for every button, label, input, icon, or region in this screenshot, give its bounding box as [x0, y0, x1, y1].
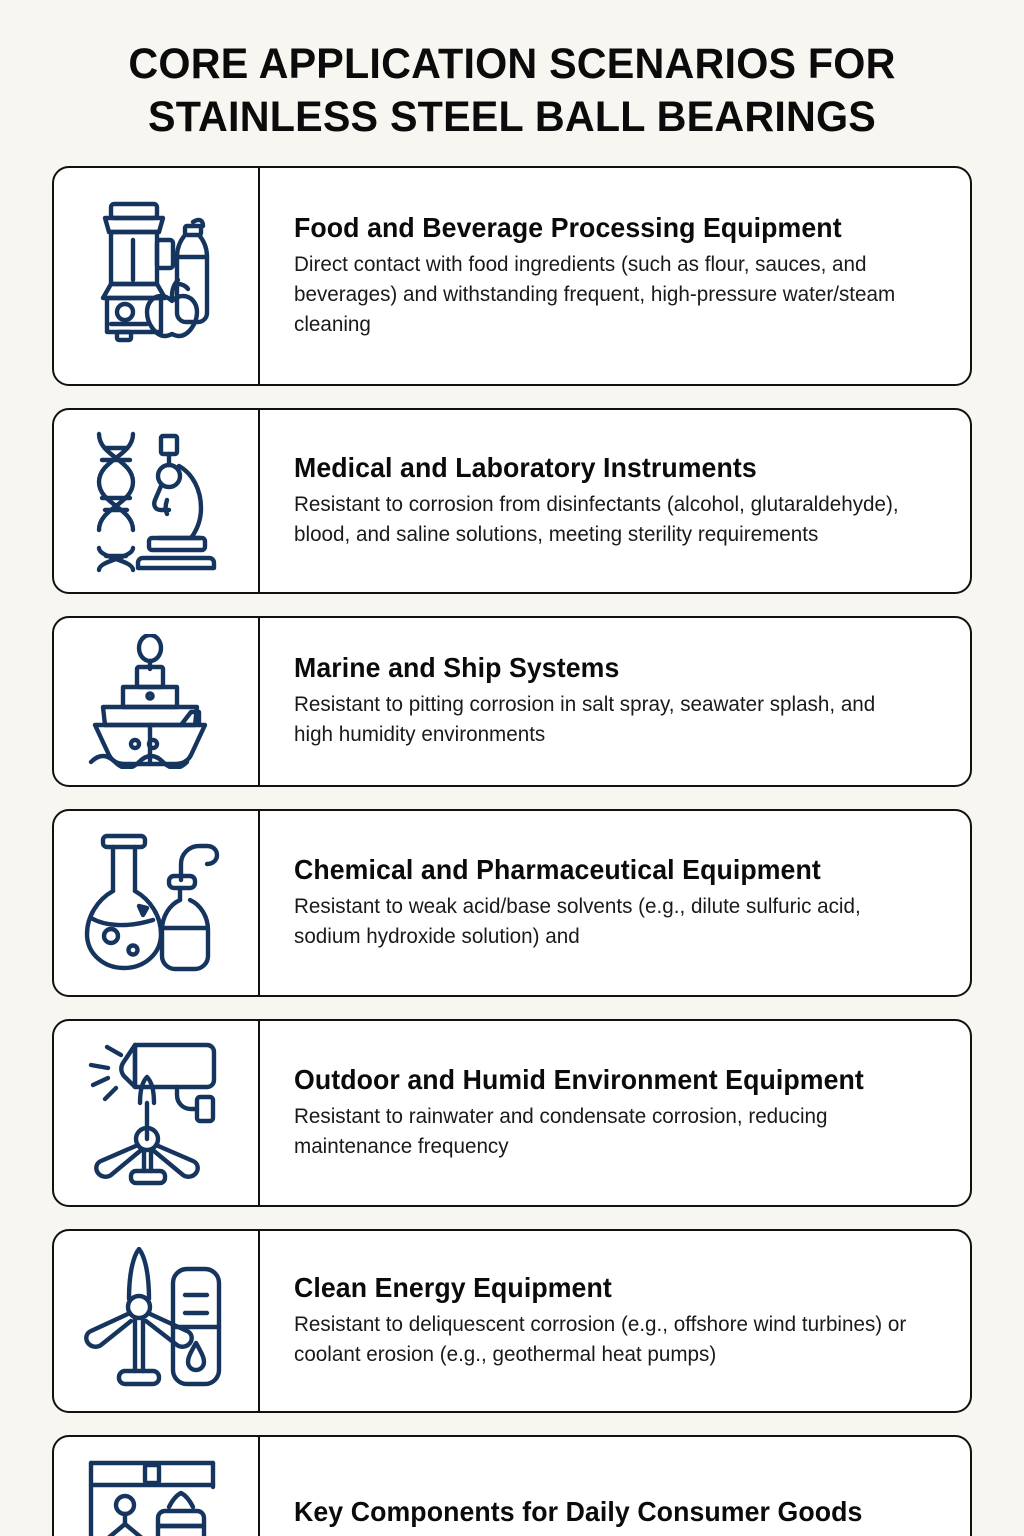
flask-bottle-icon: [81, 828, 231, 978]
card-body: Resistant to pitting corrosion in salt s…: [294, 689, 918, 749]
scenario-card-medical-laboratory[interactable]: Medical and Laboratory Instruments Resis…: [52, 408, 972, 594]
card-body: Resistant to weak acid/base solvents (e.…: [294, 891, 918, 951]
card-title: Medical and Laboratory Instruments: [294, 452, 925, 484]
text-cell: Key Components for Daily Consumer Goods …: [260, 1437, 970, 1536]
icon-cell: [54, 1231, 260, 1411]
card-body: Resistant to corrosion from disinfectant…: [294, 489, 918, 549]
page-title-line-2: STAINLESS STEEL BALL BEARINGS: [78, 91, 946, 144]
text-cell: Outdoor and Humid Environment Equipment …: [260, 1021, 970, 1205]
text-cell: Clean Energy Equipment Resistant to deli…: [260, 1231, 970, 1411]
scenario-card-clean-energy[interactable]: Clean Energy Equipment Resistant to deli…: [52, 1229, 972, 1413]
dna-microscope-icon: [81, 426, 231, 576]
card-title: Clean Energy Equipment: [294, 1272, 925, 1304]
security-camera-wind-turbine-icon: [81, 1037, 231, 1189]
blender-bottle-apple-icon: [81, 196, 231, 356]
scenario-card-consumer-goods[interactable]: Key Components for Daily Consumer Goods …: [52, 1435, 972, 1536]
icon-cell: [54, 618, 260, 785]
closet-rod-hanger-washer-icon: [81, 1455, 231, 1536]
card-body: Extended lifespan and quiet operation, p…: [294, 1533, 918, 1536]
scenario-card-list: Food and Beverage Processing Equipment D…: [0, 166, 1024, 1536]
scenario-card-chemical-pharmaceutical[interactable]: Chemical and Pharmaceutical Equipment Re…: [52, 809, 972, 997]
icon-cell: [54, 410, 260, 592]
text-cell: Chemical and Pharmaceutical Equipment Re…: [260, 811, 970, 995]
scenario-card-marine-ship[interactable]: Marine and Ship Systems Resistant to pit…: [52, 616, 972, 787]
card-title: Chemical and Pharmaceutical Equipment: [294, 854, 925, 886]
card-body: Resistant to rainwater and condensate co…: [294, 1101, 918, 1161]
icon-cell: [54, 168, 260, 384]
card-title: Marine and Ship Systems: [294, 652, 925, 684]
icon-cell: [54, 811, 260, 995]
text-cell: Food and Beverage Processing Equipment D…: [260, 168, 970, 384]
card-body: Direct contact with food ingredients (su…: [294, 249, 918, 339]
card-title: Key Components for Daily Consumer Goods: [294, 1496, 925, 1528]
card-title: Food and Beverage Processing Equipment: [294, 212, 925, 244]
wind-turbine-heat-pump-icon: [81, 1247, 231, 1395]
card-body: Resistant to deliquescent corrosion (e.g…: [294, 1309, 918, 1369]
text-cell: Medical and Laboratory Instruments Resis…: [260, 410, 970, 592]
infographic-page: CORE APPLICATION SCENARIOS FOR STAINLESS…: [0, 0, 1024, 1536]
page-title-line-1: CORE APPLICATION SCENARIOS FOR: [78, 38, 946, 91]
icon-cell: [54, 1437, 260, 1536]
text-cell: Marine and Ship Systems Resistant to pit…: [260, 618, 970, 785]
scenario-card-food-beverage[interactable]: Food and Beverage Processing Equipment D…: [52, 166, 972, 386]
icon-cell: [54, 1021, 260, 1205]
ship-waves-icon: [81, 634, 231, 769]
page-title: CORE APPLICATION SCENARIOS FOR STAINLESS…: [0, 0, 1024, 144]
scenario-card-outdoor-humid[interactable]: Outdoor and Humid Environment Equipment …: [52, 1019, 972, 1207]
card-title: Outdoor and Humid Environment Equipment: [294, 1064, 925, 1096]
